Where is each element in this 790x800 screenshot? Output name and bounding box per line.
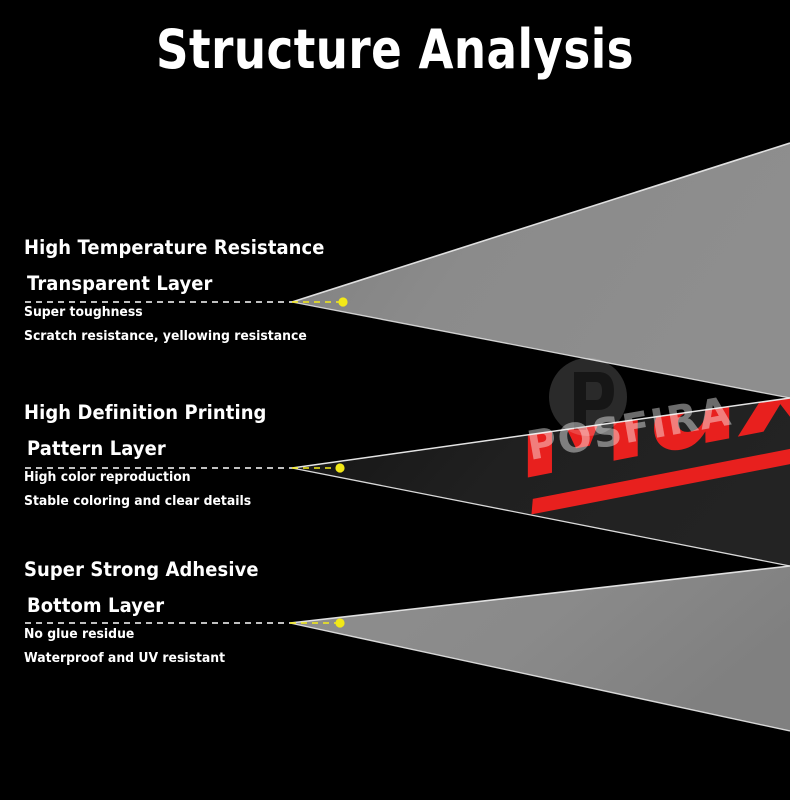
layer-feature: No glue residue — [24, 628, 328, 642]
layer-heading: High Definition Printing — [24, 403, 328, 423]
layer-subheading: Pattern Layer — [27, 439, 328, 459]
layer-subheading: Transparent Layer — [27, 274, 328, 294]
structure-analysis-infographic: Max Struc — [0, 0, 790, 800]
layer-heading: Super Strong Adhesive — [24, 560, 328, 580]
layer-feature: High color reproduction — [24, 471, 328, 485]
layer-shape-bottom — [290, 566, 790, 731]
layer-callout-pattern: High Definition Printing Pattern Layer H… — [24, 403, 354, 508]
layer-feature: Scratch resistance, yellowing resistance — [24, 330, 328, 344]
layer-callout-transparent: High Temperature Resistance Transparent … — [24, 238, 354, 343]
page-title: Structure Analysis — [28, 20, 763, 79]
layer-subheading: Bottom Layer — [27, 596, 328, 616]
layer-shape-transparent — [292, 143, 790, 398]
layer-diagram: Max — [0, 0, 790, 800]
layer-feature: Super toughness — [24, 306, 328, 320]
layer-feature: Waterproof and UV resistant — [24, 652, 328, 666]
layer-heading: High Temperature Resistance — [24, 238, 328, 258]
layer-feature: Stable coloring and clear details — [24, 495, 328, 509]
layer-callout-bottom: Super Strong Adhesive Bottom Layer No gl… — [24, 560, 354, 665]
